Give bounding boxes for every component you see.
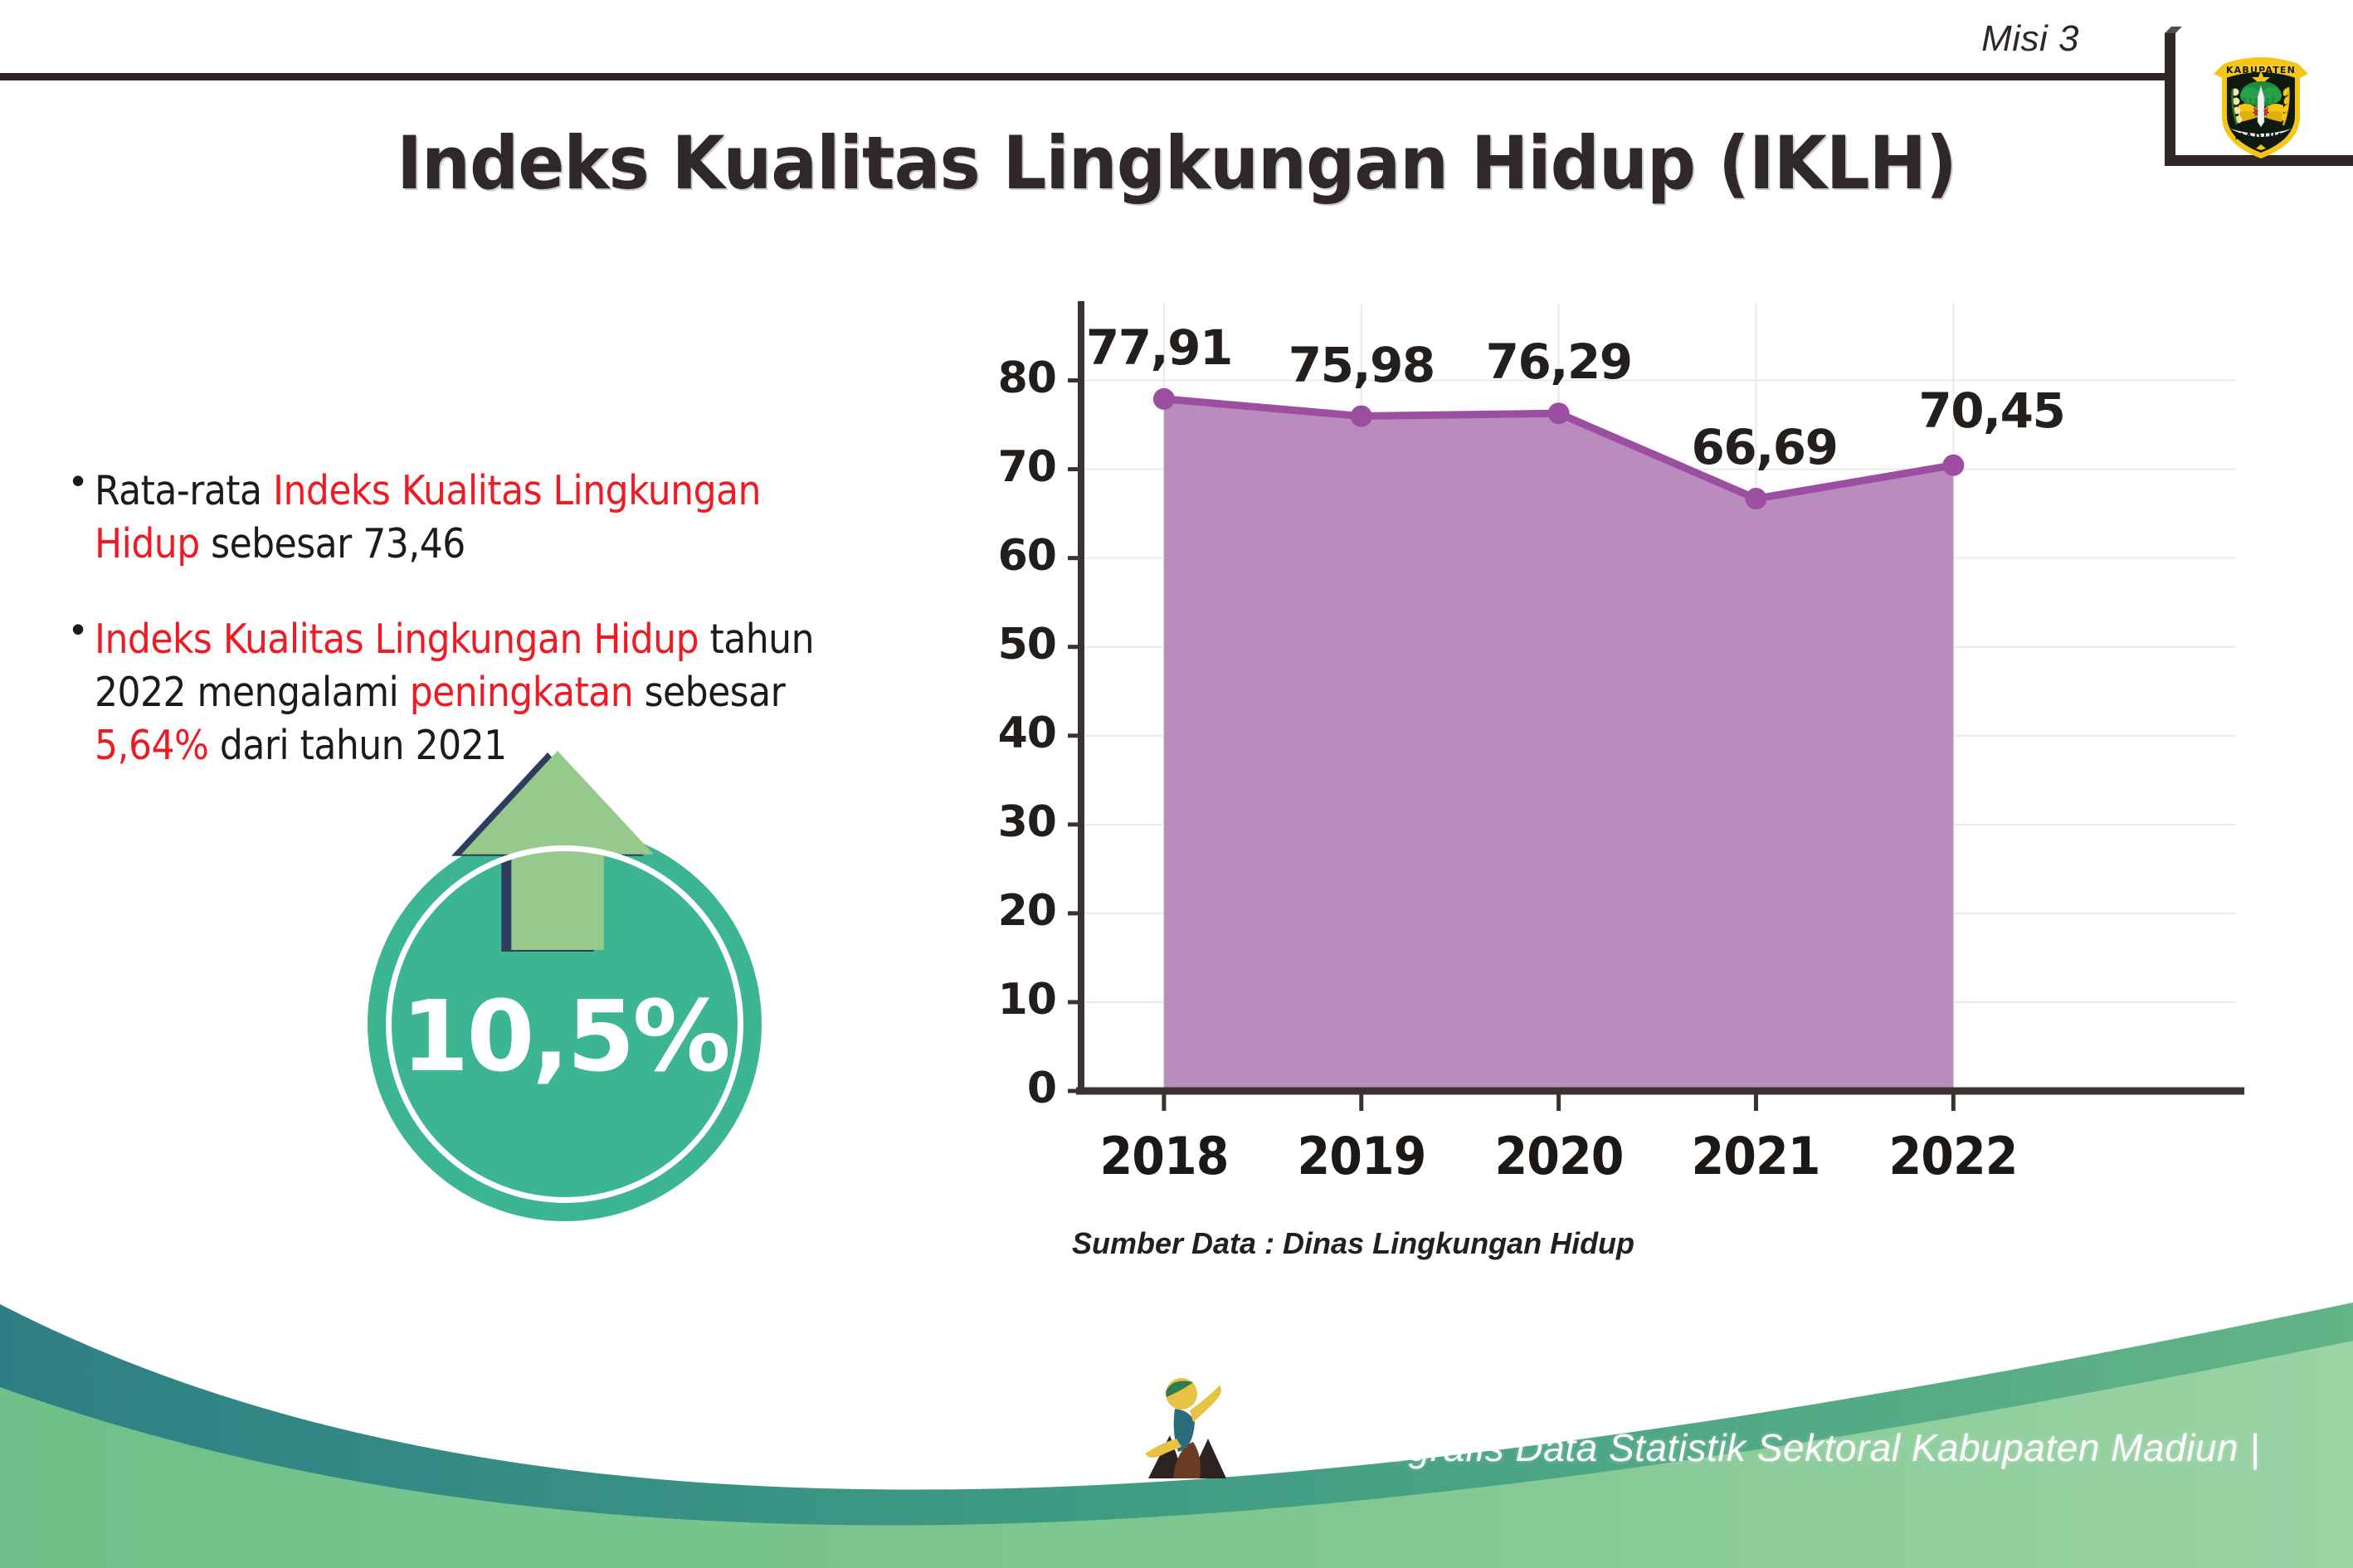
bullet-seg: sebesar: [633, 669, 785, 716]
chart-y-tick-label: 20: [965, 886, 1056, 936]
page-title: Indeks Kualitas Lingkungan Hidup (IKLH): [71, 120, 2282, 206]
chart-y-tick-label: 40: [965, 709, 1056, 758]
chart-data-label: 66,69: [1656, 419, 1872, 475]
misi-label: Misi 3: [1981, 18, 2079, 60]
chart-data-label: 70,45: [1883, 382, 2099, 439]
statistics-figure-icon: [1142, 1371, 1233, 1487]
bullet-increase-text: Indeks Kualitas Lingkungan Hidup tahun 2…: [95, 613, 850, 772]
chart-data-label: 75,98: [1254, 337, 1469, 393]
bullet-average: Rata-rata Indeks Kualitas Lingkungan Hid…: [71, 465, 934, 570]
chart-y-tick-label: 0: [965, 1064, 1056, 1113]
chart-y-tick-label: 30: [965, 797, 1056, 847]
bullet-seg-highlight: Indeks Kualitas Lingkungan Hidup: [95, 616, 699, 663]
chart-y-tick-label: 70: [965, 442, 1056, 492]
chart-data-label: 76,29: [1451, 334, 1667, 390]
chart-y-tick-label: 80: [965, 353, 1056, 403]
badge-value: 10,5%: [368, 987, 762, 1085]
bullet-seg: sebesar 73,46: [200, 520, 465, 567]
bullet-seg: Rata-rata: [95, 467, 273, 514]
growth-badge: 10,5%: [330, 751, 778, 1224]
bullet-average-text: Rata-rata Indeks Kualitas Lingkungan Hid…: [95, 465, 850, 570]
bullet-seg-highlight: peningkatan: [410, 669, 633, 716]
chart-source-note: Sumber Data : Dinas Lingkungan Hidup: [1072, 1226, 1634, 1261]
chart-x-tick-label: 2019: [1269, 1126, 1453, 1186]
footer-band: Media Infografis Data Statistik Sektoral…: [0, 1286, 2353, 1568]
chart-x-tick-label: 2022: [1862, 1126, 2045, 1186]
chart-x-tick-label: 2020: [1467, 1126, 1650, 1186]
infographic-slide: Misi 3 KABUPATEN: [0, 0, 2353, 1568]
bullet-seg-highlight: 5,64%: [95, 722, 208, 769]
bullet-increase: Indeks Kualitas Lingkungan Hidup tahun 2…: [71, 613, 934, 772]
chart-y-tick-label: 10: [965, 975, 1056, 1025]
chart-x-tick-label: 2021: [1664, 1126, 1848, 1186]
chart-y-tick-label: 60: [965, 531, 1056, 581]
chart-data-label: 77,91: [1051, 319, 1267, 376]
header-rule: [0, 73, 2165, 80]
footer-caption: Media Infografis Data Statistik Sektoral…: [1226, 1425, 2260, 1470]
chart-x-tick-label: 2018: [1072, 1126, 1255, 1186]
chart-y-tick-label: 50: [965, 620, 1056, 670]
